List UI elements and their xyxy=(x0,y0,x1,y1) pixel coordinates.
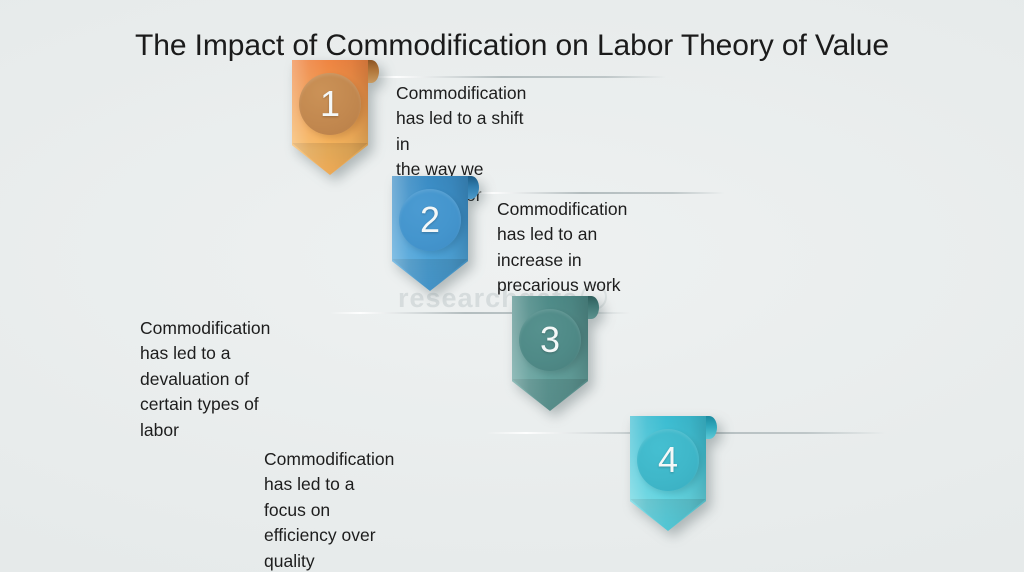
ribbon-banner-2[interactable]: 2 xyxy=(392,176,468,291)
step-number-4: 4 xyxy=(658,442,678,478)
page-title: The Impact of Commodification on Labor T… xyxy=(0,28,1024,64)
step-number-1: 1 xyxy=(320,86,340,122)
step-caption-3: Commodification has led to a devaluation… xyxy=(140,316,270,443)
ribbon-banner-3[interactable]: 3 xyxy=(512,296,588,411)
step-number-badge-3: 3 xyxy=(519,309,581,371)
step-number-badge-1: 1 xyxy=(299,73,361,135)
step-number-badge-2: 2 xyxy=(399,189,461,251)
ribbon-banner-1[interactable]: 1 xyxy=(292,60,368,175)
step-caption-4: Commodification has led to a focus on ef… xyxy=(264,447,394,572)
step-number-3: 3 xyxy=(540,322,560,358)
ribbon-banner-4[interactable]: 4 xyxy=(630,416,706,531)
connector-line-1 xyxy=(366,76,666,78)
step-number-badge-4: 4 xyxy=(637,429,699,491)
step-caption-2: Commodification has led to an increase i… xyxy=(497,197,627,299)
connector-line-2 xyxy=(466,192,724,194)
slide-canvas: The Impact of Commodification on Labor T… xyxy=(0,0,1024,572)
step-number-2: 2 xyxy=(420,202,440,238)
